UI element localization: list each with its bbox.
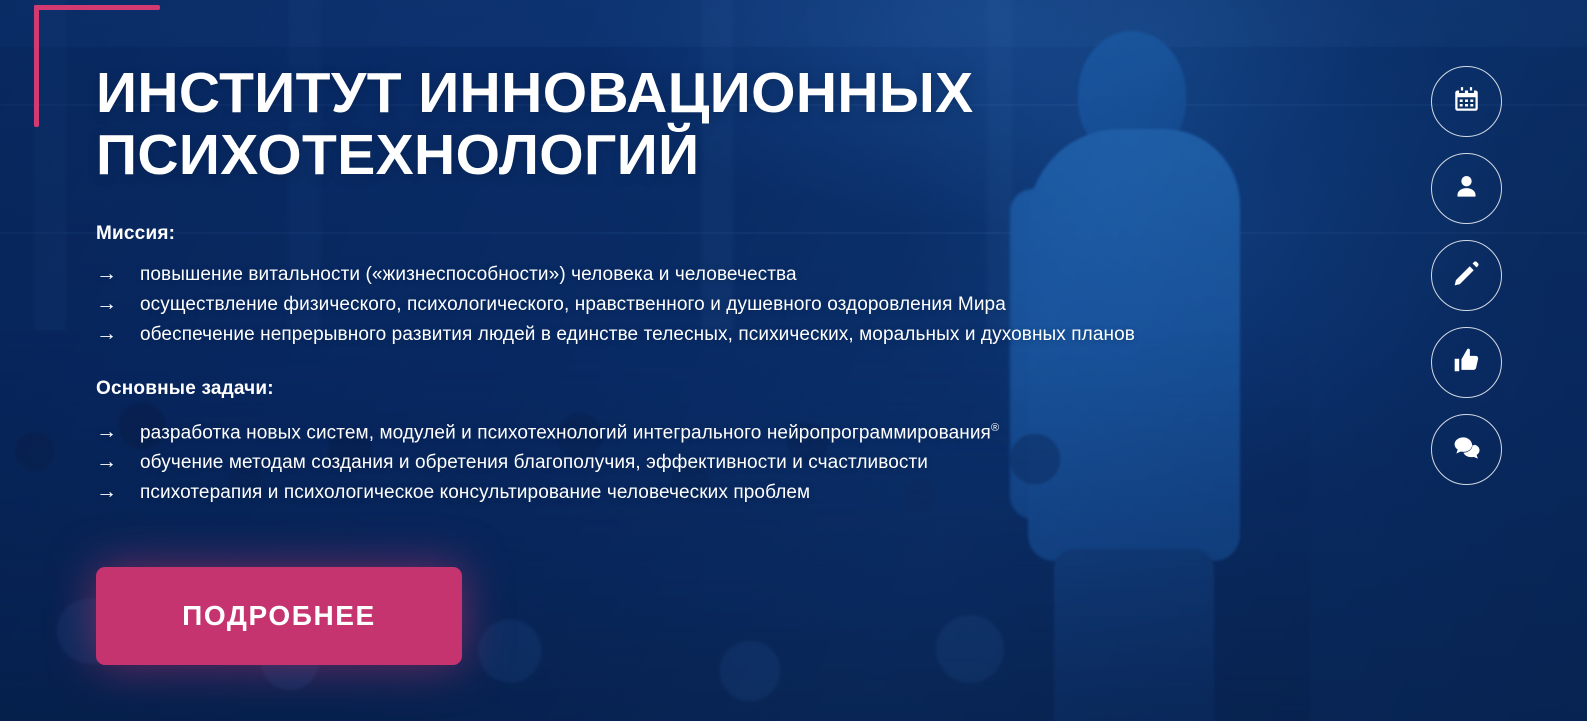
task-item-body: разработка новых систем, модулей и психо…	[140, 422, 991, 443]
side-rail-item-chat[interactable]	[1431, 414, 1502, 485]
mission-item-text: осуществление физического, психологическ…	[140, 290, 1006, 319]
arrow-right-icon: →	[96, 259, 140, 288]
side-rail-item-edit[interactable]	[1431, 240, 1502, 311]
side-rail-item-calendar[interactable]	[1431, 66, 1502, 137]
list-item: → обучение методам создания и обретения …	[96, 447, 1296, 477]
list-item: → психотерапия и психологическое консуль…	[96, 477, 1296, 507]
task-item-text: разработка новых систем, модулей и психо…	[140, 414, 999, 447]
page-title: Институт инновационных психотехнологий	[96, 62, 1126, 186]
task-item-text: обучение методам создания и обретения бл…	[140, 448, 928, 477]
mission-item-text: обеспечение непрерывного развития людей …	[140, 320, 1135, 349]
tasks-label: Основные задачи:	[96, 378, 1296, 400]
mission-label: Миссия:	[96, 223, 1296, 245]
pencil-icon	[1453, 260, 1480, 292]
side-rail	[1431, 66, 1502, 485]
list-item: → обеспечение непрерывного развития люде…	[96, 319, 1296, 349]
side-rail-item-like[interactable]	[1431, 327, 1502, 398]
user-icon	[1453, 173, 1480, 205]
mission-item-text: повышение витальности («жизнеспособности…	[140, 260, 797, 289]
list-item: → осуществление физического, психологиче…	[96, 289, 1296, 319]
calendar-icon	[1453, 86, 1480, 118]
side-rail-item-profile[interactable]	[1431, 153, 1502, 224]
mission-list: → повышение витальности («жизнеспособнос…	[96, 259, 1296, 349]
registered-trademark-mark: ®	[991, 422, 999, 434]
list-item: → повышение витальности («жизнеспособнос…	[96, 259, 1296, 289]
learn-more-button[interactable]: Подробнее	[96, 567, 462, 665]
thumbs-up-icon	[1453, 347, 1480, 379]
hero-content: Институт инновационных психотехнологий М…	[96, 0, 1296, 721]
arrow-right-icon: →	[96, 477, 140, 506]
arrow-right-icon: →	[96, 319, 140, 348]
tasks-list: → разработка новых систем, модулей и пси…	[96, 414, 1296, 507]
arrow-right-icon: →	[96, 447, 140, 476]
arrow-right-icon: →	[96, 417, 140, 446]
hero-banner: Институт инновационных психотехнологий М…	[0, 0, 1587, 721]
list-item: → разработка новых систем, модулей и пси…	[96, 414, 1296, 447]
arrow-right-icon: →	[96, 289, 140, 318]
task-item-text: психотерапия и психологическое консульти…	[140, 478, 810, 507]
chat-bubbles-icon	[1453, 434, 1480, 466]
